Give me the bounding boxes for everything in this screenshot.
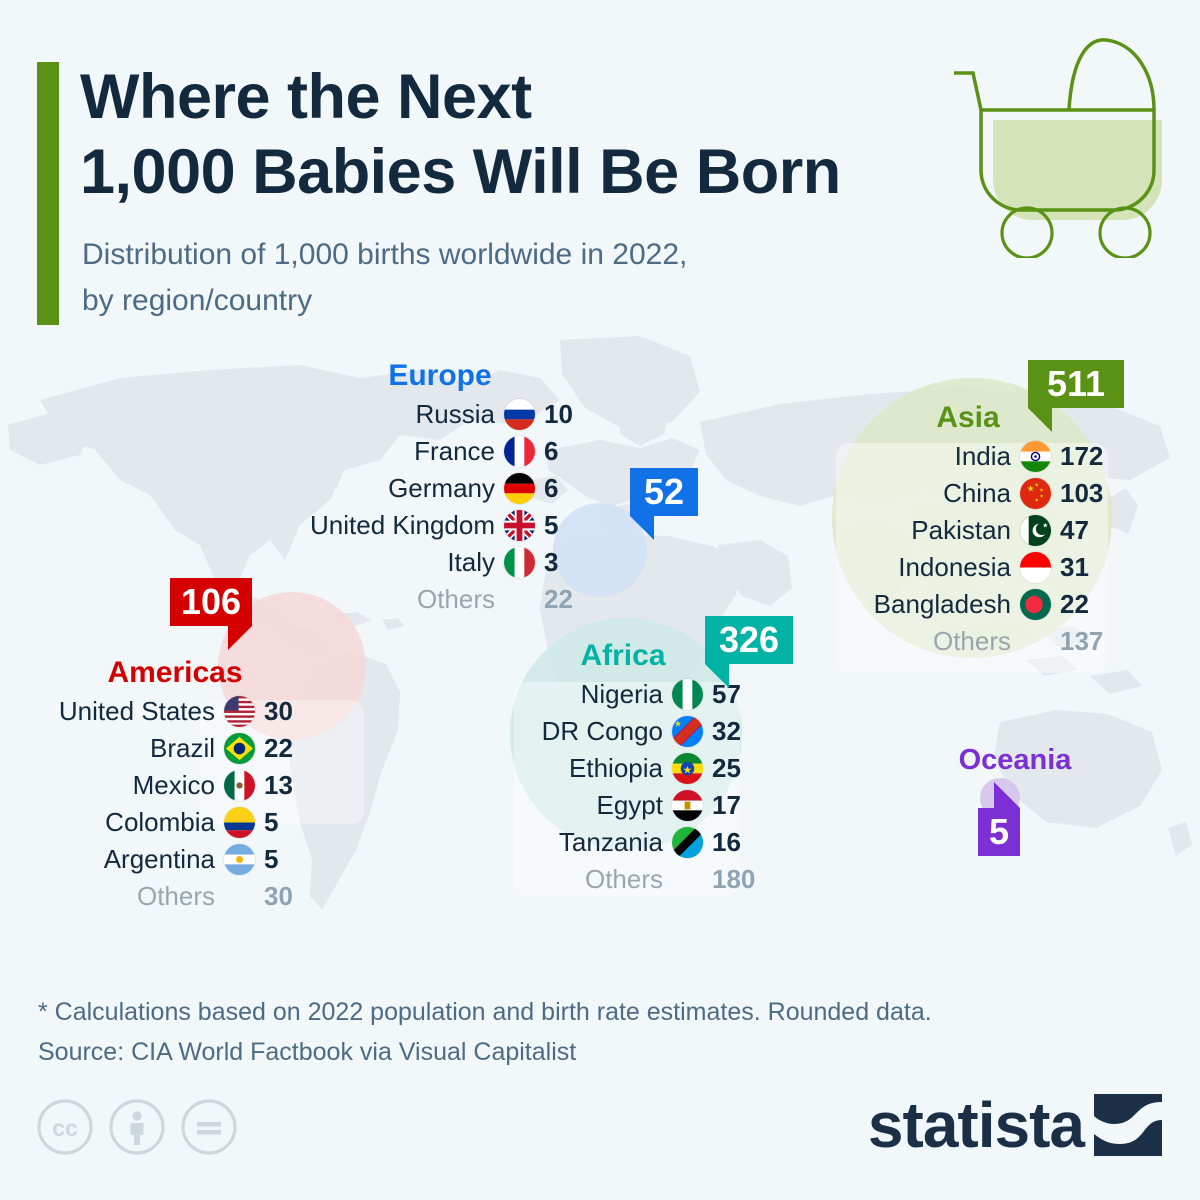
europe-total-badge: 52 bbox=[630, 468, 698, 516]
table-row: United Kingdom 5 bbox=[280, 507, 600, 544]
region-europe: Europe Russia 10 France 6 Germany 6 Unit… bbox=[280, 358, 600, 618]
table-row: Germany 6 bbox=[280, 470, 600, 507]
country-name: France bbox=[414, 436, 495, 467]
svg-text:★: ★ bbox=[674, 720, 682, 730]
americas-country-rows: United States 30 Brazil 22 Mexico 13 bbox=[30, 693, 320, 915]
table-row-others: Others 22 bbox=[280, 581, 600, 618]
country-name: Indonesia bbox=[898, 552, 1011, 583]
others-label: Others bbox=[137, 881, 215, 912]
others-value: 30 bbox=[264, 881, 320, 912]
africa-total-badge: 326 bbox=[705, 616, 793, 664]
region-label-americas: Americas bbox=[30, 655, 320, 691]
oceania-total-badge: 5 bbox=[978, 808, 1020, 856]
asia-country-rows: India 172 China ★ ★ ★ ★ ★ 103 Pakistan bbox=[820, 438, 1116, 660]
table-row-others: Others 30 bbox=[30, 878, 320, 915]
svg-text:★: ★ bbox=[1042, 522, 1048, 530]
americas-total-badge: 106 bbox=[170, 578, 252, 626]
statista-logo-icon bbox=[1094, 1094, 1162, 1156]
table-row: Indonesia 31 bbox=[820, 549, 1116, 586]
flag-et-icon: ★ bbox=[672, 753, 703, 784]
badge-tail bbox=[1028, 408, 1052, 432]
source-line: Source: CIA World Factbook via Visual Ca… bbox=[38, 1032, 1178, 1072]
cc-by-person-icon bbox=[108, 1098, 166, 1156]
flag-us-icon bbox=[224, 696, 255, 727]
subtitle-line-1: Distribution of 1,000 births worldwide i… bbox=[82, 232, 962, 278]
country-name: Pakistan bbox=[911, 515, 1011, 546]
table-row: Italy 3 bbox=[280, 544, 600, 581]
table-row: Argentina 5 bbox=[30, 841, 320, 878]
country-name: Ethiopia bbox=[569, 753, 663, 784]
table-row: France 6 bbox=[280, 433, 600, 470]
country-value: 5 bbox=[264, 844, 320, 875]
no-flag-placeholder bbox=[504, 584, 535, 615]
footnote: * Calculations based on 2022 population … bbox=[38, 992, 1178, 1072]
accent-bar bbox=[37, 62, 59, 325]
others-label: Others bbox=[585, 864, 663, 895]
cc-nd-equals-icon bbox=[180, 1098, 238, 1156]
country-value: 103 bbox=[1060, 478, 1116, 509]
flag-br-icon bbox=[224, 733, 255, 764]
flag-cd-icon: ★ bbox=[672, 716, 703, 747]
others-label: Others bbox=[417, 584, 495, 615]
table-row: Tanzania 16 bbox=[478, 824, 768, 861]
creative-commons-icons: cc bbox=[36, 1098, 238, 1156]
country-value: 16 bbox=[712, 827, 768, 858]
country-name: Russia bbox=[416, 399, 495, 430]
flag-tz-icon bbox=[672, 827, 703, 858]
africa-country-rows: Nigeria 57 DR Congo ★ 32 Ethiopia ★ 25 bbox=[478, 676, 768, 898]
country-value: 5 bbox=[544, 510, 600, 541]
region-label-oceania: Oceania bbox=[900, 742, 1130, 778]
country-value: 5 bbox=[264, 807, 320, 838]
others-value: 137 bbox=[1060, 626, 1116, 657]
flag-cn-icon: ★ ★ ★ ★ ★ bbox=[1020, 478, 1051, 509]
country-value: 22 bbox=[1060, 589, 1116, 620]
table-row: Pakistan ★ 47 bbox=[820, 512, 1116, 549]
statista-logo: statista bbox=[868, 1090, 1162, 1160]
svg-text:★: ★ bbox=[1039, 493, 1044, 499]
badge-tail bbox=[228, 626, 252, 650]
flag-de-icon bbox=[504, 473, 535, 504]
country-value: 17 bbox=[712, 790, 768, 821]
table-row: Ethiopia ★ 25 bbox=[478, 750, 768, 787]
flag-bd-icon bbox=[1020, 589, 1051, 620]
country-value: 32 bbox=[712, 716, 768, 747]
country-name: Argentina bbox=[104, 844, 215, 875]
country-name: Bangladesh bbox=[874, 589, 1011, 620]
country-value: 6 bbox=[544, 436, 600, 467]
svg-text:★: ★ bbox=[683, 763, 693, 776]
flag-ar-icon bbox=[224, 844, 255, 875]
flag-eg-icon bbox=[672, 790, 703, 821]
country-name: Tanzania bbox=[559, 827, 663, 858]
no-flag-placeholder bbox=[1020, 626, 1051, 657]
table-row: China ★ ★ ★ ★ ★ 103 bbox=[820, 475, 1116, 512]
country-value: 3 bbox=[544, 547, 600, 578]
country-name: Nigeria bbox=[581, 679, 663, 710]
others-label: Others bbox=[933, 626, 1011, 657]
country-name: Germany bbox=[388, 473, 495, 504]
country-value: 172 bbox=[1060, 441, 1116, 472]
table-row: India 172 bbox=[820, 438, 1116, 475]
region-oceania: Oceania bbox=[900, 742, 1130, 778]
flag-fr-icon bbox=[504, 436, 535, 467]
country-value: 30 bbox=[264, 696, 320, 727]
table-row: United States 30 bbox=[30, 693, 320, 730]
country-name: DR Congo bbox=[542, 716, 663, 747]
table-row-others: Others 180 bbox=[478, 861, 768, 898]
others-value: 22 bbox=[544, 584, 600, 615]
title-line-2: 1,000 Babies Will Be Born bbox=[80, 135, 980, 210]
svg-text:★: ★ bbox=[1035, 497, 1040, 503]
table-row: Russia 10 bbox=[280, 396, 600, 433]
country-value: 22 bbox=[264, 733, 320, 764]
badge-tail bbox=[705, 664, 729, 688]
flag-in-icon bbox=[1020, 441, 1051, 472]
country-value: 13 bbox=[264, 770, 320, 801]
subtitle-line-2: by region/country bbox=[82, 278, 962, 324]
svg-text:cc: cc bbox=[52, 1115, 78, 1141]
table-row-others: Others 137 bbox=[820, 623, 1116, 660]
country-name: India bbox=[955, 441, 1011, 472]
table-row: Colombia 5 bbox=[30, 804, 320, 841]
americas-total-value: 106 bbox=[181, 584, 241, 620]
country-value: 10 bbox=[544, 399, 600, 430]
svg-text:★: ★ bbox=[1039, 488, 1044, 494]
region-asia: Asia India 172 China ★ ★ ★ ★ ★ 103 Pa bbox=[820, 400, 1116, 660]
flag-co-icon bbox=[224, 807, 255, 838]
oceania-total-value: 5 bbox=[989, 814, 1009, 850]
country-value: 6 bbox=[544, 473, 600, 504]
asia-total-badge: 511 bbox=[1028, 360, 1124, 408]
baby-stroller-icon bbox=[948, 28, 1184, 258]
table-row: Bangladesh 22 bbox=[820, 586, 1116, 623]
no-flag-placeholder bbox=[224, 881, 255, 912]
country-name: United States bbox=[59, 696, 215, 727]
badge-tail bbox=[630, 516, 654, 540]
table-row: DR Congo ★ 32 bbox=[478, 713, 768, 750]
page-title: Where the Next 1,000 Babies Will Be Born bbox=[80, 60, 980, 210]
badge-tail bbox=[994, 782, 1020, 808]
europe-country-rows: Russia 10 France 6 Germany 6 United King… bbox=[280, 396, 600, 618]
country-value: 31 bbox=[1060, 552, 1116, 583]
region-label-europe: Europe bbox=[280, 358, 600, 394]
flag-mx-icon bbox=[224, 770, 255, 801]
others-value: 180 bbox=[712, 864, 768, 895]
country-name: Egypt bbox=[597, 790, 664, 821]
cc-icon: cc bbox=[36, 1098, 94, 1156]
country-name: United Kingdom bbox=[310, 510, 495, 541]
statista-wordmark: statista bbox=[868, 1093, 1084, 1157]
region-americas: Americas United States 30 Brazil 22 Mexi… bbox=[30, 655, 320, 915]
flag-pk-icon: ★ bbox=[1020, 515, 1051, 546]
page-subtitle: Distribution of 1,000 births worldwide i… bbox=[82, 232, 962, 324]
country-name: Colombia bbox=[105, 807, 215, 838]
flag-id-icon bbox=[1020, 552, 1051, 583]
country-name: Brazil bbox=[150, 733, 215, 764]
country-name: China bbox=[943, 478, 1011, 509]
infographic-header: Where the Next 1,000 Babies Will Be Born… bbox=[0, 0, 1200, 335]
title-line-1: Where the Next bbox=[80, 60, 980, 135]
europe-total-value: 52 bbox=[644, 474, 684, 510]
country-name: Mexico bbox=[133, 770, 215, 801]
no-flag-placeholder bbox=[672, 864, 703, 895]
flag-gb-icon bbox=[504, 510, 535, 541]
footnote-line-1: * Calculations based on 2022 population … bbox=[38, 992, 1178, 1032]
table-row: Egypt 17 bbox=[478, 787, 768, 824]
africa-total-value: 326 bbox=[719, 622, 779, 658]
country-value: 47 bbox=[1060, 515, 1116, 546]
asia-total-value: 511 bbox=[1047, 366, 1105, 402]
table-row: Brazil 22 bbox=[30, 730, 320, 767]
flag-ng-icon bbox=[672, 679, 703, 710]
flag-it-icon bbox=[504, 547, 535, 578]
flag-ru-icon bbox=[504, 399, 535, 430]
table-row: Mexico 13 bbox=[30, 767, 320, 804]
country-value: 25 bbox=[712, 753, 768, 784]
country-name: Italy bbox=[447, 547, 495, 578]
